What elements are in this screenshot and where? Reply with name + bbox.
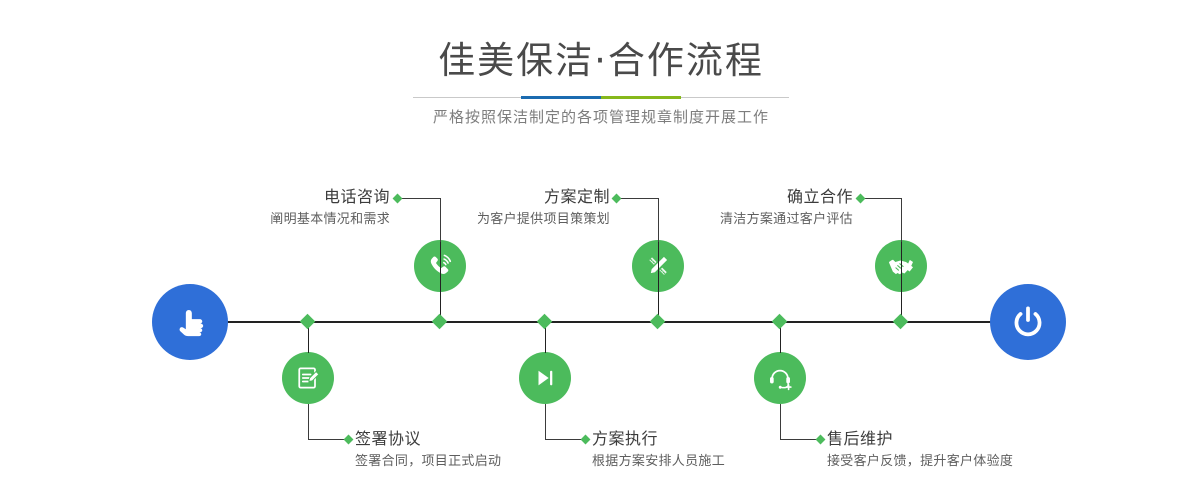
step-stem-5 bbox=[901, 240, 902, 322]
step-leader-v-6 bbox=[780, 404, 781, 439]
step-leader-v-2 bbox=[308, 404, 309, 439]
step-caption-3: 方案定制 为客户提供项目策策划 bbox=[370, 186, 610, 230]
step-title-5: 确立合作 bbox=[613, 186, 853, 208]
power-icon bbox=[1007, 301, 1049, 343]
step-caption-4: 方案执行 根据方案安排人员施工 bbox=[592, 428, 852, 472]
step-leader-h-4 bbox=[545, 439, 585, 440]
step-diamond-4 bbox=[537, 314, 553, 330]
step-desc-6: 接受客户反馈，提升客户体验度 bbox=[827, 452, 1107, 472]
timeline-end-endcap bbox=[990, 284, 1066, 360]
pointing-hand-icon bbox=[170, 302, 210, 342]
step-desc-1: 阐明基本情况和需求 bbox=[150, 210, 390, 230]
step-desc-4: 根据方案安排人员施工 bbox=[592, 452, 852, 472]
step-diamond-1 bbox=[432, 314, 448, 330]
step-leader-h-2 bbox=[308, 439, 348, 440]
step-desc-5: 清洁方案通过客户评估 bbox=[613, 210, 853, 230]
step-node-4 bbox=[519, 352, 571, 404]
play-execute-icon bbox=[532, 365, 558, 391]
step-caption-5: 确立合作 清洁方案通过客户评估 bbox=[613, 186, 853, 230]
step-leader-h-6 bbox=[780, 439, 820, 440]
step-leader-dot-2 bbox=[344, 435, 354, 445]
step-stem-3 bbox=[658, 240, 659, 322]
step-leader-dot-5 bbox=[856, 194, 866, 204]
step-stem-1 bbox=[440, 240, 441, 322]
step-leader-v-5 bbox=[901, 198, 902, 242]
step-leader-h-5 bbox=[861, 198, 902, 199]
step-title-1: 电话咨询 bbox=[150, 186, 390, 208]
step-title-3: 方案定制 bbox=[370, 186, 610, 208]
step-caption-2: 签署协议 签署合同，项目正式启动 bbox=[355, 428, 615, 472]
step-leader-v-4 bbox=[545, 404, 546, 439]
step-node-2 bbox=[282, 352, 334, 404]
step-diamond-2 bbox=[300, 314, 316, 330]
step-diamond-3 bbox=[650, 314, 666, 330]
step-node-6 bbox=[754, 352, 806, 404]
timeline-start-endcap bbox=[152, 284, 228, 360]
step-diamond-6 bbox=[772, 314, 788, 330]
step-diamond-5 bbox=[893, 314, 909, 330]
step-caption-6: 售后维护 接受客户反馈，提升客户体验度 bbox=[827, 428, 1107, 472]
step-desc-3: 为客户提供项目策策划 bbox=[370, 210, 610, 230]
step-title-6: 售后维护 bbox=[827, 428, 1107, 450]
headset-plus-icon bbox=[766, 364, 794, 392]
document-sign-icon bbox=[294, 364, 322, 392]
step-desc-2: 签署合同，项目正式启动 bbox=[355, 452, 615, 472]
timeline: 电话咨询 阐明基本情况和需求 签署协议 签署合同，项目正式启动 bbox=[0, 0, 1202, 502]
process-flow-infographic: 佳美保洁·合作流程 严格按照保洁制定的各项管理规章制度开展工作 bbox=[0, 0, 1202, 502]
step-caption-1: 电话咨询 阐明基本情况和需求 bbox=[150, 186, 390, 230]
